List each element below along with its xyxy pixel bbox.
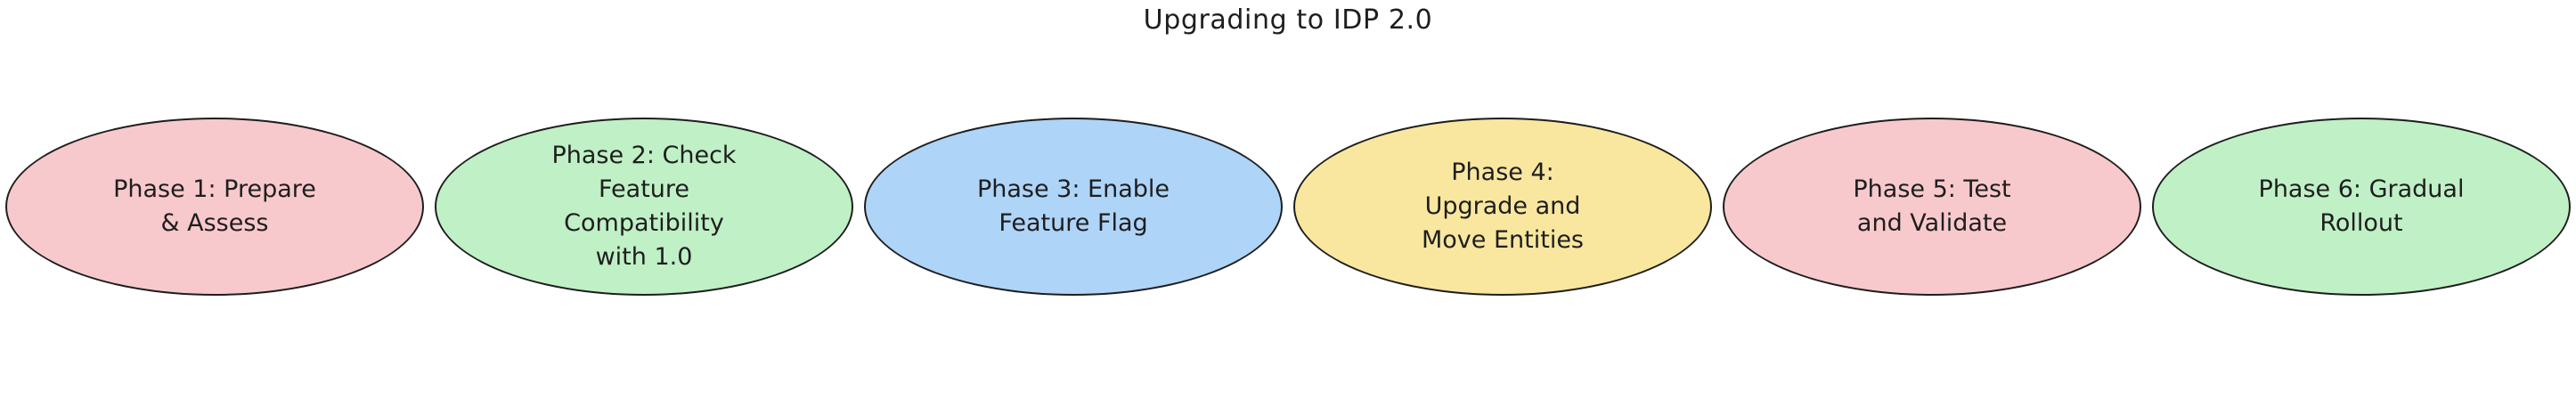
node-label-phase-3: Phase 3: EnableFeature Flag — [864, 118, 1283, 296]
node-label-line: Feature Flag — [999, 207, 1147, 240]
diagram-node-phase-2[interactable]: Phase 2: CheckFeatureCompatibilitywith 1… — [429, 118, 859, 296]
diagram-title: Upgrading to IDP 2.0 — [0, 4, 2576, 37]
node-label-line: Feature — [599, 173, 689, 207]
node-label-phase-5: Phase 5: Testand Validate — [1723, 118, 2141, 296]
diagram-node-phase-3[interactable]: Phase 3: EnableFeature Flag — [859, 118, 1288, 296]
node-label-phase-1: Phase 1: Prepare& Assess — [5, 118, 424, 296]
node-label-line: with 1.0 — [596, 240, 693, 274]
node-label-line: Phase 2: Check — [551, 139, 736, 173]
diagram-node-phase-4[interactable]: Phase 4:Upgrade andMove Entities — [1288, 118, 1717, 296]
diagram-node-row: Phase 1: Prepare& AssessPhase 2: CheckFe… — [0, 69, 2576, 399]
node-label-line: Phase 3: Enable — [977, 173, 1170, 207]
node-label-line: Move Entities — [1422, 224, 1584, 257]
diagram-canvas: Upgrading to IDP 2.0 Phase 1: Prepare& A… — [0, 0, 2576, 399]
diagram-node-phase-5[interactable]: Phase 5: Testand Validate — [1717, 118, 2147, 296]
node-label-line: Upgrade and — [1425, 190, 1581, 224]
diagram-node-phase-1[interactable]: Phase 1: Prepare& Assess — [0, 118, 429, 296]
node-label-line: & Assess — [161, 207, 269, 240]
node-label-line: and Validate — [1857, 207, 2007, 240]
node-label-line: Phase 6: Gradual — [2259, 173, 2465, 207]
node-label-line: Rollout — [2319, 207, 2402, 240]
node-label-phase-4: Phase 4:Upgrade andMove Entities — [1293, 118, 1712, 296]
node-label-line: Phase 5: Test — [1853, 173, 2010, 207]
node-label-phase-6: Phase 6: GradualRollout — [2152, 118, 2571, 296]
node-label-phase-2: Phase 2: CheckFeatureCompatibilitywith 1… — [435, 118, 853, 296]
node-label-line: Phase 1: Prepare — [113, 173, 316, 207]
diagram-node-phase-6[interactable]: Phase 6: GradualRollout — [2147, 118, 2576, 296]
node-label-line: Compatibility — [564, 207, 724, 240]
node-label-line: Phase 4: — [1451, 156, 1553, 190]
